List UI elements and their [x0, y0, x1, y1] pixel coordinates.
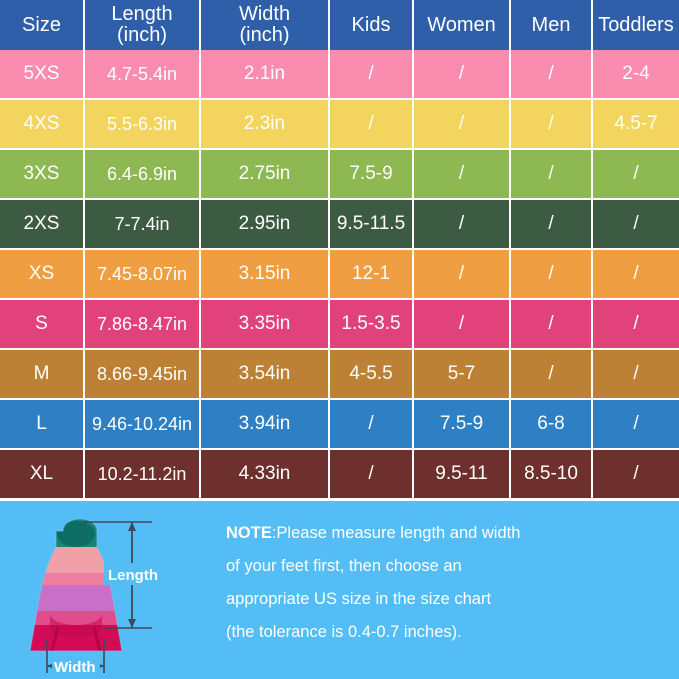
- table-row: 3XS 6.4-6.9in 2.75in 7.5-9 / / /: [0, 150, 679, 200]
- cell-kids: 4-5.5: [330, 350, 414, 400]
- column-header-width: Width (inch): [201, 0, 330, 50]
- table-row: L 9.46-10.24in 3.94in / 7.5-9 6-8 /: [0, 400, 679, 450]
- cell-size: 3XS: [0, 150, 85, 200]
- cell-women: 7.5-9: [414, 400, 511, 450]
- cell-men: /: [511, 100, 593, 150]
- cell-width: 3.54in: [201, 350, 330, 400]
- table-row: 4XS 5.5-6.3in 2.3in / / / 4.5-7: [0, 100, 679, 150]
- cell-width: 2.95in: [201, 200, 330, 250]
- table-row: XL 10.2-11.2in 4.33in / 9.5-11 8.5-10 /: [0, 450, 679, 500]
- cell-women: 9.5-11: [414, 450, 511, 500]
- fin-measurement-diagram: Length Width: [0, 501, 218, 679]
- note-line-4: (the tolerance is 0.4-0.7 inches).: [226, 616, 659, 649]
- cell-size: 4XS: [0, 100, 85, 150]
- note-line-1: NOTE:Please measure length and width: [226, 517, 659, 550]
- table-row: M 8.66-9.45in 3.54in 4-5.5 5-7 / /: [0, 350, 679, 400]
- column-header-width-line1: Width: [239, 4, 290, 25]
- cell-width: 4.33in: [201, 450, 330, 500]
- cell-toddlers: /: [593, 300, 679, 350]
- cell-size: XL: [0, 450, 85, 500]
- cell-length: 7-7.4in: [85, 200, 201, 250]
- cell-length: 8.66-9.45in: [85, 350, 201, 400]
- cell-length: 5.5-6.3in: [85, 100, 201, 150]
- column-header-toddlers: Toddlers: [593, 0, 679, 50]
- cell-men: /: [511, 50, 593, 100]
- cell-kids: 7.5-9: [330, 150, 414, 200]
- cell-width: 3.94in: [201, 400, 330, 450]
- length-label: Length: [108, 567, 158, 584]
- cell-length: 10.2-11.2in: [85, 450, 201, 500]
- table-row: 5XS 4.7-5.4in 2.1in / / / 2-4: [0, 50, 679, 100]
- cell-women: 5-7: [414, 350, 511, 400]
- cell-length: 9.46-10.24in: [85, 400, 201, 450]
- cell-width: 2.3in: [201, 100, 330, 150]
- cell-size: XS: [0, 250, 85, 300]
- column-header-women: Women: [414, 0, 511, 50]
- cell-women: /: [414, 150, 511, 200]
- table-row: 2XS 7-7.4in 2.95in 9.5-11.5 / / /: [0, 200, 679, 250]
- cell-size: 2XS: [0, 200, 85, 250]
- cell-women: /: [414, 250, 511, 300]
- note-line-3: appropriate US size in the size chart: [226, 583, 659, 616]
- column-header-kids: Kids: [330, 0, 414, 50]
- cell-width: 2.75in: [201, 150, 330, 200]
- cell-men: /: [511, 350, 593, 400]
- cell-toddlers: 2-4: [593, 50, 679, 100]
- column-header-width-line2: (inch): [239, 25, 290, 46]
- cell-men: 8.5-10: [511, 450, 593, 500]
- cell-women: /: [414, 100, 511, 150]
- fin-diagram-svg: Length Width: [0, 501, 218, 679]
- column-header-length-line2: (inch): [111, 25, 172, 46]
- cell-size: L: [0, 400, 85, 450]
- column-header-men: Men: [511, 0, 593, 50]
- note-line-1-text: :Please measure length and width: [272, 524, 521, 542]
- cell-width: 2.1in: [201, 50, 330, 100]
- cell-size: M: [0, 350, 85, 400]
- size-chart-table: Size Length (inch) Width (inch) Kids Wom…: [0, 0, 679, 501]
- column-header-size: Size: [0, 0, 85, 50]
- cell-men: /: [511, 300, 593, 350]
- size-chart-sheet: Size Length (inch) Width (inch) Kids Wom…: [0, 0, 679, 679]
- cell-width: 3.35in: [201, 300, 330, 350]
- cell-toddlers: /: [593, 450, 679, 500]
- cell-length: 6.4-6.9in: [85, 150, 201, 200]
- cell-women: /: [414, 300, 511, 350]
- cell-toddlers: /: [593, 350, 679, 400]
- table-row: XS 7.45-8.07in 3.15in 12-1 / / /: [0, 250, 679, 300]
- cell-kids: 1.5-3.5: [330, 300, 414, 350]
- table-header-row: Size Length (inch) Width (inch) Kids Wom…: [0, 0, 679, 50]
- cell-toddlers: /: [593, 250, 679, 300]
- note-label: NOTE: [226, 524, 272, 542]
- length-arrow-down: [128, 619, 136, 628]
- cell-kids: /: [330, 100, 414, 150]
- cell-length: 4.7-5.4in: [85, 50, 201, 100]
- width-label: Width: [54, 659, 96, 676]
- cell-kids: /: [330, 450, 414, 500]
- fin-band-mid: [10, 585, 150, 611]
- cell-kids: 9.5-11.5: [330, 200, 414, 250]
- cell-size: 5XS: [0, 50, 85, 100]
- cell-men: /: [511, 150, 593, 200]
- note-text-block: NOTE:Please measure length and width of …: [218, 501, 679, 679]
- cell-kids: /: [330, 50, 414, 100]
- table-row: S 7.86-8.47in 3.35in 1.5-3.5 / / /: [0, 300, 679, 350]
- fin-foot-opening: [57, 521, 95, 547]
- cell-toddlers: /: [593, 400, 679, 450]
- cell-women: /: [414, 50, 511, 100]
- cell-men: 6-8: [511, 400, 593, 450]
- note-panel: Length Width NOTE:Please measure length …: [0, 501, 679, 679]
- column-header-length: Length (inch): [85, 0, 201, 50]
- cell-size: S: [0, 300, 85, 350]
- cell-kids: 12-1: [330, 250, 414, 300]
- fin-band-lower: [10, 611, 150, 625]
- cell-toddlers: 4.5-7: [593, 100, 679, 150]
- cell-toddlers: /: [593, 150, 679, 200]
- cell-women: /: [414, 200, 511, 250]
- cell-width: 3.15in: [201, 250, 330, 300]
- cell-length: 7.86-8.47in: [85, 300, 201, 350]
- cell-length: 7.45-8.07in: [85, 250, 201, 300]
- cell-men: /: [511, 250, 593, 300]
- cell-men: /: [511, 200, 593, 250]
- length-arrow-up: [128, 522, 136, 531]
- cell-kids: /: [330, 400, 414, 450]
- note-line-2: of your feet first, then choose an: [226, 550, 659, 583]
- cell-toddlers: /: [593, 200, 679, 250]
- column-header-length-line1: Length: [111, 4, 172, 25]
